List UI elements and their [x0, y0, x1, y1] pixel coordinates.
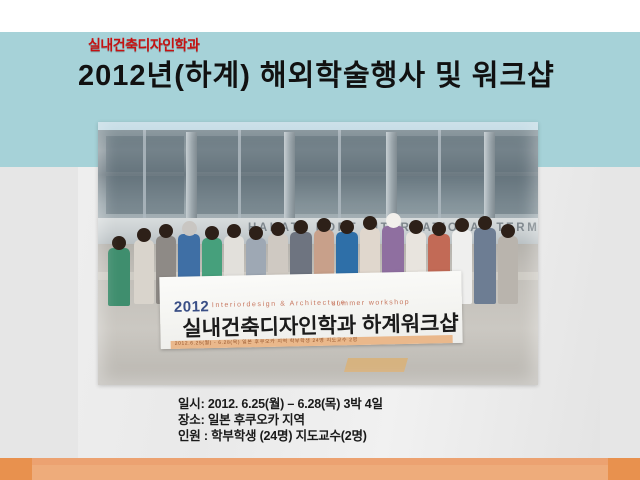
group-photo: HAKATA PORT INTERNATIONAL TERMINAL	[98, 122, 538, 385]
page-title: 2012년(하계) 해외학술행사 및 워크샵	[78, 60, 555, 93]
department-name: 실내건축디자인학과	[88, 38, 199, 52]
slide-canvas: 실내건축디자인학과 2012년(하계) 해외학술행사 및 워크샵 HAKATA …	[0, 0, 640, 480]
top-white-strip	[0, 0, 640, 32]
info-line-people: 인원 : 학부학생 (24명) 지도교수(2명)	[178, 428, 383, 444]
info-line-date: 일시: 2012. 6.25(월) – 6.28(목) 3박 4일	[178, 396, 383, 412]
photo-vignette	[98, 122, 538, 385]
info-line-location: 장소: 일본 후쿠오카 지역	[178, 412, 383, 428]
orange-footer-inner-top	[32, 458, 608, 465]
event-info-block: 일시: 2012. 6.25(월) – 6.28(목) 3박 4일 장소: 일본…	[178, 396, 383, 444]
